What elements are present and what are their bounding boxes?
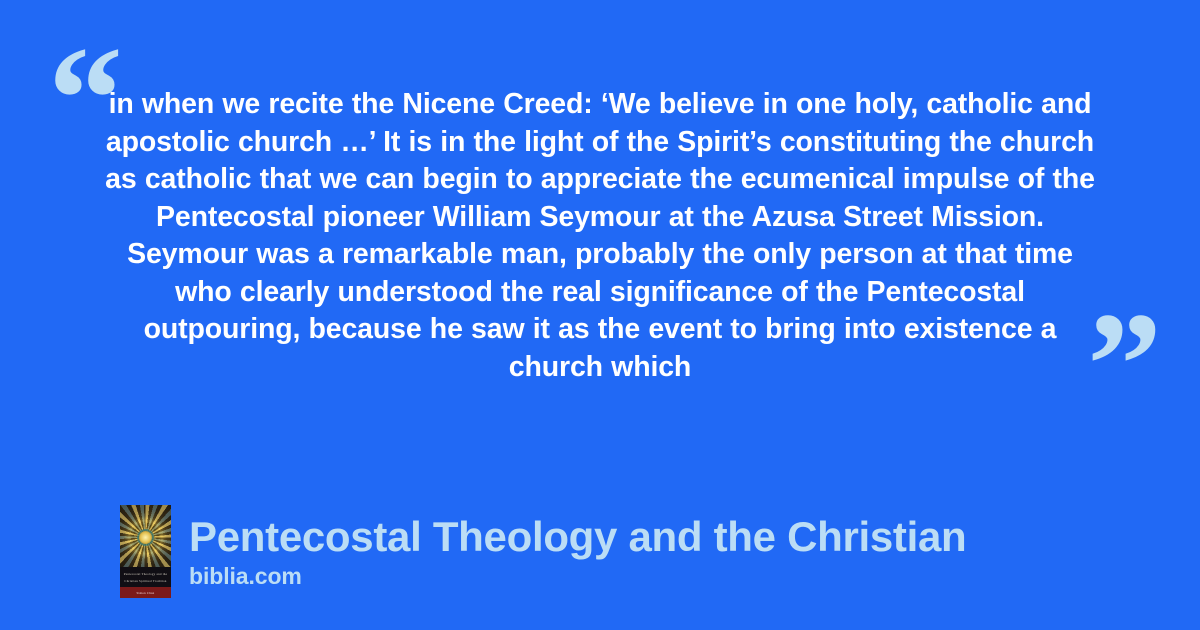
stained-glass-rose-window-icon	[120, 505, 171, 567]
card-footer: Pentecostal Theology and the Christian S…	[120, 505, 966, 598]
cover-title-band: Pentecostal Theology and the Christian S…	[120, 567, 171, 587]
quote-text: in when we recite the Nicene Creed: ‘We …	[100, 86, 1100, 386]
cover-title-line-1: Pentecostal Theology and the	[124, 571, 167, 575]
cover-title-line-2: Christian Spiritual Tradition	[124, 578, 166, 582]
cover-author-band: Simon Chan	[120, 587, 171, 598]
site-domain[interactable]: biblia.com	[189, 563, 966, 590]
book-cover-thumbnail[interactable]: Pentecostal Theology and the Christian S…	[120, 505, 171, 598]
quote-share-card: “ in when we recite the Nicene Creed: ‘W…	[0, 0, 1200, 630]
book-title: Pentecostal Theology and the Christian	[189, 513, 966, 561]
cover-author-name: Simon Chan	[137, 591, 155, 595]
footer-text-group: Pentecostal Theology and the Christian b…	[189, 513, 966, 590]
quote-block: in when we recite the Nicene Creed: ‘We …	[100, 86, 1100, 386]
closing-quote-mark-icon: ”	[1087, 290, 1160, 440]
